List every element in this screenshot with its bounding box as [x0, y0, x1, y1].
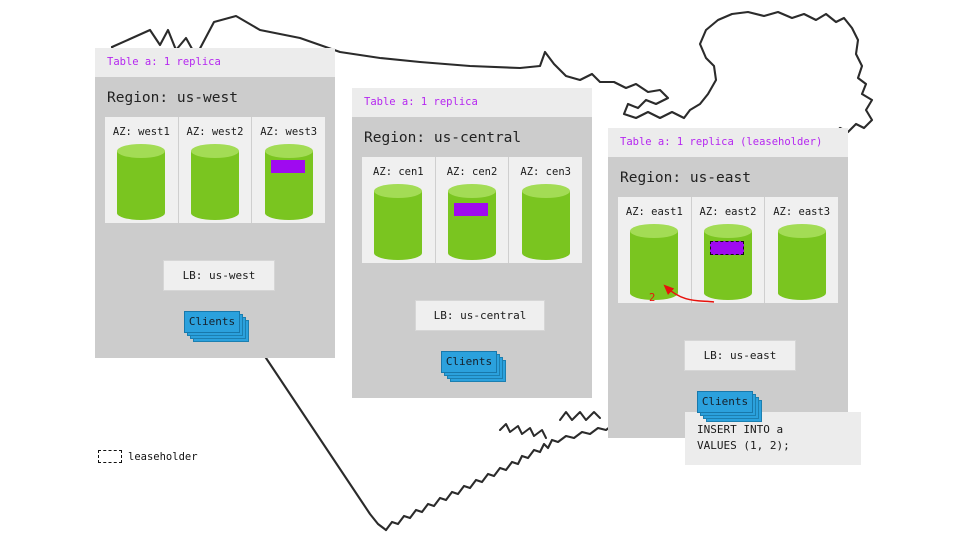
- step-2-arrow: [0, 0, 960, 540]
- curved-arrow-icon: [665, 286, 714, 302]
- step-number-2: 2: [649, 292, 655, 304]
- diagram-canvas: Table a: 1 replica Region: us-west AZ: w…: [0, 0, 960, 540]
